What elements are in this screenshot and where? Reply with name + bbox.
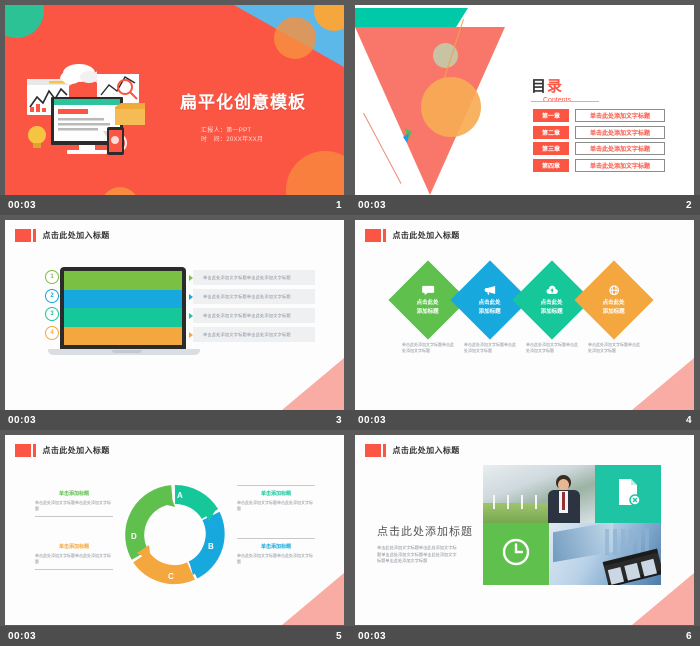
slide-header: 点击此处加入标题 <box>15 229 110 242</box>
timer-label: 00:03 <box>358 200 386 211</box>
slide-footer-1: 00:03 1 <box>0 195 350 215</box>
header-square-icon <box>365 229 381 242</box>
text-row[interactable]: 单击此处添加文字标题单击此处添加文字标题 <box>193 327 315 342</box>
toc-row[interactable]: 第四章 单击此处添加文字标题 <box>533 159 665 172</box>
body-paragraph: 单击此处添加文字标题单击此处添加文字标题单击此处添加文字标题单击此处添加文字标题… <box>377 545 459 565</box>
step-number-list: 1 2 3 4 <box>45 270 59 344</box>
megaphone-icon <box>479 284 501 298</box>
diamond-row: 点击此处 添加标题 单击此处添加文字标题单击此处添加文字标题 点击此处 <box>397 262 645 354</box>
slide-header: 点击此处加入标题 <box>15 444 110 457</box>
callout-title: 单击添加标题 <box>237 543 315 550</box>
diamond-label-line2: 添加标题 <box>417 308 439 316</box>
slide-footer-3: 00:03 3 <box>0 410 350 430</box>
slide-number: 4 <box>686 415 692 426</box>
diamond-label-line1: 点击此处 <box>541 299 563 307</box>
diamond-label-line1: 点击此处 <box>417 299 439 307</box>
diamond-label-line2: 添加标题 <box>541 308 563 316</box>
document-delete-tile[interactable] <box>595 465 661 523</box>
slide-5[interactable]: 点击此处加入标题 A B C D <box>5 435 344 625</box>
text-row-label: 单击此处添加文字标题单击此处添加文字标题 <box>203 332 291 338</box>
toc-row-text[interactable]: 单击此处添加文字标题 <box>575 142 665 155</box>
toc-title-part1: 目 <box>531 78 547 95</box>
diamond-shape[interactable]: 点击此处 添加标题 <box>574 260 653 339</box>
toc-title-part2: 录 <box>547 78 563 95</box>
ring-label-d: D <box>131 532 137 541</box>
slide-header: 点击此处加入标题 <box>365 444 460 457</box>
presenter-line: 汇报人：第一PPT <box>201 127 263 136</box>
toc-list: 第一章 单击此处添加文字标题 第二章 单击此处添加文字标题 第三章 单击此处添加… <box>533 109 665 175</box>
decor-green-circle <box>5 5 44 38</box>
color-band-orange <box>64 327 182 346</box>
callout-body: 单击此处添加文字标题单击此处添加文字标题 <box>237 500 315 512</box>
diamond-item[interactable]: 点击此处 添加标题 单击此处添加文字标题单击此处添加文字标题 <box>459 262 521 354</box>
text-row-list: 单击此处添加文字标题单击此处添加文字标题 单击此处添加文字标题单击此处添加文字标… <box>193 270 315 346</box>
slide-6[interactable]: 点击此处加入标题 <box>355 435 694 625</box>
text-row-label: 单击此处添加文字标题单击此处添加文字标题 <box>203 294 291 300</box>
toc-row[interactable]: 第三章 单击此处添加文字标题 <box>533 142 665 155</box>
text-row-label: 单击此处添加文字标题单击此处添加文字标题 <box>203 275 291 281</box>
callout-rule <box>35 569 113 570</box>
toc-row-text[interactable]: 单击此处添加文字标题 <box>575 159 665 172</box>
toc-row-text[interactable]: 单击此处添加文字标题 <box>575 126 665 139</box>
slide-header: 点击此处加入标题 <box>365 229 460 242</box>
bullet-arrow-icon <box>189 332 193 338</box>
callout-rule <box>237 485 315 486</box>
callout-body: 单击此处添加文字标题单击此处添加文字标题 <box>35 553 113 565</box>
step-number-badge[interactable]: 1 <box>45 270 59 284</box>
slide-number: 1 <box>336 200 342 211</box>
laptop-screen <box>60 267 186 349</box>
flat-design-illustration <box>21 47 161 157</box>
color-band-teal <box>64 308 182 327</box>
bullet-arrow-icon <box>189 275 193 281</box>
ring-segment-c <box>141 557 191 575</box>
timer-label: 00:03 <box>8 415 36 426</box>
slide-cell-2[interactable]: 目录 Contents 第一章 单击此处添加文字标题 第二章 单击此处添加文字标… <box>350 0 700 215</box>
text-row[interactable]: 单击此处添加文字标题单击此处添加文字标题 <box>193 270 315 285</box>
callout-bottom-right: 单击添加标题 单击此处添加文字标题单击此处添加文字标题 <box>237 538 315 565</box>
diamond-label-line2: 添加标题 <box>479 308 501 316</box>
toc-row[interactable]: 第一章 单击此处添加文字标题 <box>533 109 665 122</box>
color-band-stack <box>64 271 182 345</box>
header-bar-icon <box>383 229 386 242</box>
slide-footer-2: 00:03 2 <box>350 195 700 215</box>
laptop-illustration <box>60 267 190 359</box>
bullet-arrow-icon <box>189 294 193 300</box>
timer-label: 00:03 <box>358 415 386 426</box>
slide-cell-1[interactable]: 扁平化创意模板 汇报人：第一PPT 时 间：20XX年XX月 00:03 1 <box>0 0 350 215</box>
slide-subtitle: 汇报人：第一PPT 时 间：20XX年XX月 <box>201 127 263 145</box>
toc-title-cn: 目录 <box>531 75 571 96</box>
color-band-green <box>64 271 182 290</box>
color-band-blue <box>64 290 182 309</box>
bullet-arrow-icon <box>189 313 193 319</box>
slide-cell-3[interactable]: 点击此处加入标题 1 2 3 4 <box>0 215 350 430</box>
diamond-item[interactable]: 点击此处 添加标题 单击此处添加文字标题单击此处添加文字标题 <box>397 262 459 354</box>
ring-label-c: C <box>168 572 174 581</box>
toc-chapter-badge[interactable]: 第二章 <box>533 126 569 139</box>
decor-orange-circle-bottom-right <box>286 151 344 195</box>
diamond-caption: 单击此处添加文字标题单击此处添加文字标题 <box>588 342 640 354</box>
wind-turbine-icon <box>535 495 537 509</box>
slide-1[interactable]: 扁平化创意模板 汇报人：第一PPT 时 间：20XX年XX月 <box>5 5 344 195</box>
clock-icon <box>502 538 530 571</box>
wind-turbine-icon <box>507 495 509 509</box>
slide-4[interactable]: 点击此处加入标题 点击此处 添加标题 单击此处添加文字标题单击此处添加文字标题 <box>355 220 694 410</box>
ring-label-b: B <box>208 542 214 551</box>
toc-row[interactable]: 第二章 单击此处添加文字标题 <box>533 126 665 139</box>
step-number-badge[interactable]: 2 <box>45 289 59 303</box>
slide-cell-5[interactable]: 点击此处加入标题 A B C D <box>0 430 350 646</box>
header-bar-icon <box>33 229 36 242</box>
slide-cell-4[interactable]: 点击此处加入标题 点击此处 添加标题 单击此处添加文字标题单击此处添加文字标题 <box>350 215 700 430</box>
office-businessman-photo <box>483 465 595 523</box>
callout-body: 单击此处添加文字标题单击此处添加文字标题 <box>35 500 113 512</box>
toc-row-text[interactable]: 单击此处添加文字标题 <box>575 109 665 122</box>
toc-chapter-badge[interactable]: 第四章 <box>533 159 569 172</box>
toc-heading: 目录 Contents <box>531 75 571 104</box>
businessman-figure <box>547 473 581 523</box>
slide-number: 6 <box>686 631 692 642</box>
timer-label: 00:03 <box>358 631 386 642</box>
callout-body: 单击此处添加文字标题单击此处添加文字标题 <box>237 553 315 565</box>
body-text-block: 点击此处添加标题 单击此处添加文字标题单击此处添加文字标题单击此处添加文字标题单… <box>377 523 473 565</box>
callout-title: 单击添加标题 <box>35 543 113 550</box>
decor-orange-circle-top <box>274 17 316 59</box>
header-square-icon <box>365 444 381 457</box>
slide-2[interactable]: 目录 Contents 第一章 单击此处添加文字标题 第二章 单击此处添加文字标… <box>355 5 694 195</box>
callout-top-right: 单击添加标题 单击此处添加文字标题单击此处添加文字标题 <box>237 485 315 512</box>
callout-top-left: 单击添加标题 单击此处添加文字标题单击此处添加文字标题 <box>35 490 113 517</box>
callout-rule <box>35 516 113 517</box>
header-title: 点击此处加入标题 <box>43 445 110 456</box>
cloud-upload-icon <box>541 284 563 298</box>
callout-bottom-left: 单击添加标题 单击此处添加文字标题单击此处添加文字标题 <box>35 543 113 570</box>
slide-footer-5: 00:03 5 <box>0 626 350 646</box>
callout-title: 单击添加标题 <box>237 490 315 497</box>
decor-orange-circle <box>421 77 481 137</box>
slide-footer-4: 00:03 4 <box>350 410 700 430</box>
toc-chapter-badge[interactable]: 第一章 <box>533 109 569 122</box>
slide-cell-6[interactable]: 点击此处加入标题 <box>350 430 700 646</box>
toc-chapter-badge[interactable]: 第三章 <box>533 142 569 155</box>
decor-corner-triangle <box>282 573 344 625</box>
chat-bubble-icon <box>417 284 439 298</box>
diamond-label-line1: 点击此处 <box>603 299 625 307</box>
callout-rule <box>237 538 315 539</box>
wind-turbine-icon <box>493 495 495 509</box>
header-title: 点击此处加入标题 <box>43 230 110 241</box>
globe-network-icon <box>603 284 625 298</box>
slide-number: 5 <box>336 631 342 642</box>
date-line: 时 间：20XX年XX月 <box>201 136 263 145</box>
diamond-caption: 单击此处添加文字标题单击此处添加文字标题 <box>402 342 454 354</box>
decor-orange-circle-bottom <box>101 187 139 195</box>
timer-label: 00:03 <box>8 200 36 211</box>
laptop-notch <box>112 350 142 353</box>
slide-footer-6: 00:03 6 <box>350 626 700 646</box>
slide-3[interactable]: 点击此处加入标题 1 2 3 4 <box>5 220 344 410</box>
text-row[interactable]: 单击此处添加文字标题单击此处添加文字标题 <box>193 308 315 323</box>
toc-divider <box>531 101 599 102</box>
step-number-badge[interactable]: 3 <box>45 307 59 321</box>
image-mosaic <box>483 465 661 585</box>
decor-corner-triangle <box>632 358 694 410</box>
diamond-caption: 单击此处添加文字标题单击此处添加文字标题 <box>464 342 516 354</box>
header-title: 点击此处加入标题 <box>393 230 460 241</box>
diamond-label-line2: 添加标题 <box>603 308 625 316</box>
decor-diagonal-line-salmon <box>363 113 401 184</box>
header-title: 点击此处加入标题 <box>393 445 460 456</box>
body-title: 点击此处添加标题 <box>377 523 473 539</box>
header-square-icon <box>15 444 31 457</box>
decor-corner-triangle <box>282 358 344 410</box>
callout-title: 单击添加标题 <box>35 490 113 497</box>
header-square-icon <box>15 229 31 242</box>
text-row-label: 单击此处添加文字标题单击此处添加文字标题 <box>203 313 291 319</box>
diamond-item[interactable]: 点击此处 添加标题 单击此处添加文字标题单击此处添加文字标题 <box>583 262 645 354</box>
step-number-badge[interactable]: 4 <box>45 326 59 340</box>
diamond-label-line1: 点击此处 <box>479 299 501 307</box>
wind-turbine-icon <box>521 495 523 509</box>
technology-city-photo <box>549 523 661 585</box>
header-bar-icon <box>33 444 36 457</box>
slide-number: 3 <box>336 415 342 426</box>
slide-thumbnail-grid: 扁平化创意模板 汇报人：第一PPT 时 间：20XX年XX月 00:03 1 目… <box>0 0 700 646</box>
header-bar-icon <box>383 444 386 457</box>
ring-label-a: A <box>177 491 183 500</box>
document-delete-icon <box>616 478 640 511</box>
slide-title: 扁平化创意模板 <box>180 88 306 113</box>
diamond-item[interactable]: 点击此处 添加标题 单击此处添加文字标题单击此处添加文字标题 <box>521 262 583 354</box>
highway-overlay <box>553 523 613 562</box>
cycle-ring-diagram: A B C D <box>123 483 227 587</box>
timer-label: 00:03 <box>8 631 36 642</box>
clock-tile[interactable] <box>483 523 549 585</box>
diamond-caption: 单击此处添加文字标题单击此处添加文字标题 <box>526 342 578 354</box>
slide-number: 2 <box>686 200 692 211</box>
text-row[interactable]: 单击此处添加文字标题单击此处添加文字标题 <box>193 289 315 304</box>
